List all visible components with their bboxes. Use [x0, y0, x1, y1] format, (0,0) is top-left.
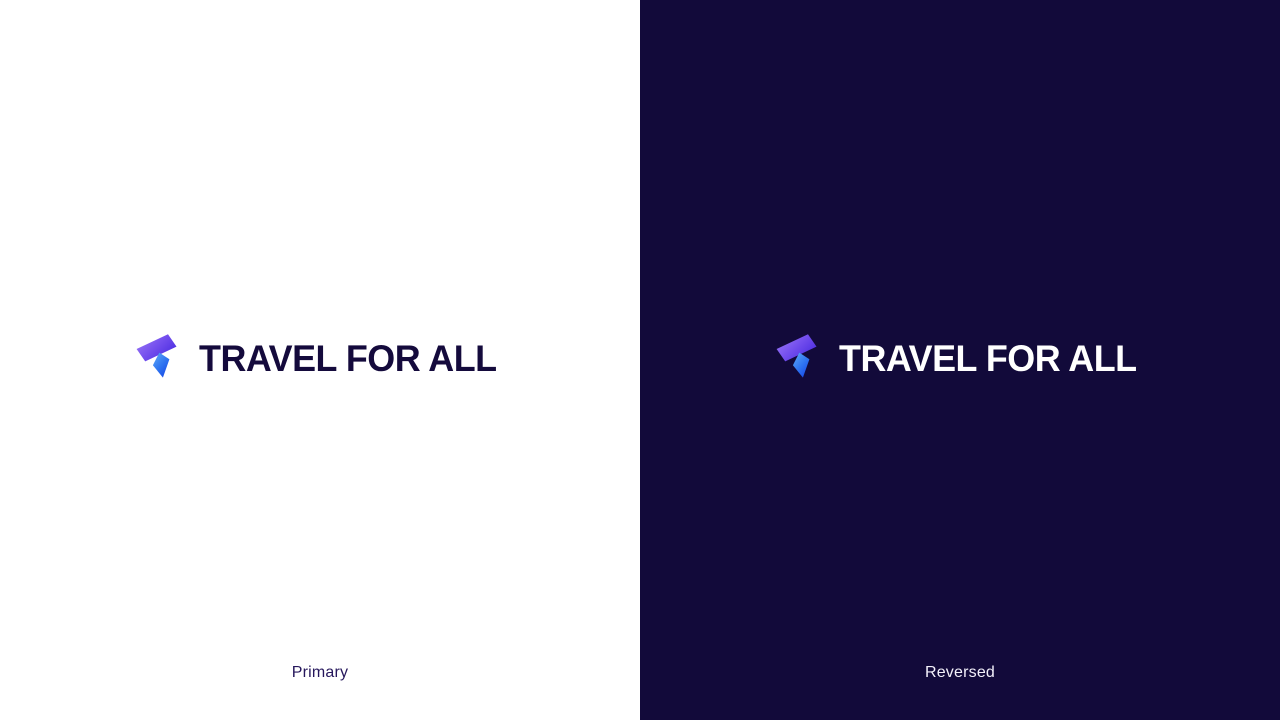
logo-lockup-reversed: TRAVEL FOR ALL	[640, 322, 1280, 394]
wordmark-reversed: TRAVEL FOR ALL	[839, 340, 1137, 377]
caption-reversed: Reversed	[640, 662, 1280, 683]
wordmark-primary: TRAVEL FOR ALL	[199, 340, 497, 377]
panel-reversed: TRAVEL FOR ALL Reversed	[640, 0, 1280, 720]
travel-for-all-t-mark-icon	[135, 332, 185, 384]
logo-lockup-primary: TRAVEL FOR ALL	[0, 322, 640, 394]
travel-for-all-t-mark-icon	[775, 332, 825, 384]
caption-primary: Primary	[0, 662, 640, 683]
logo-variants-board: TRAVEL FOR ALL Primary	[0, 0, 1280, 720]
panel-primary: TRAVEL FOR ALL Primary	[0, 0, 640, 720]
